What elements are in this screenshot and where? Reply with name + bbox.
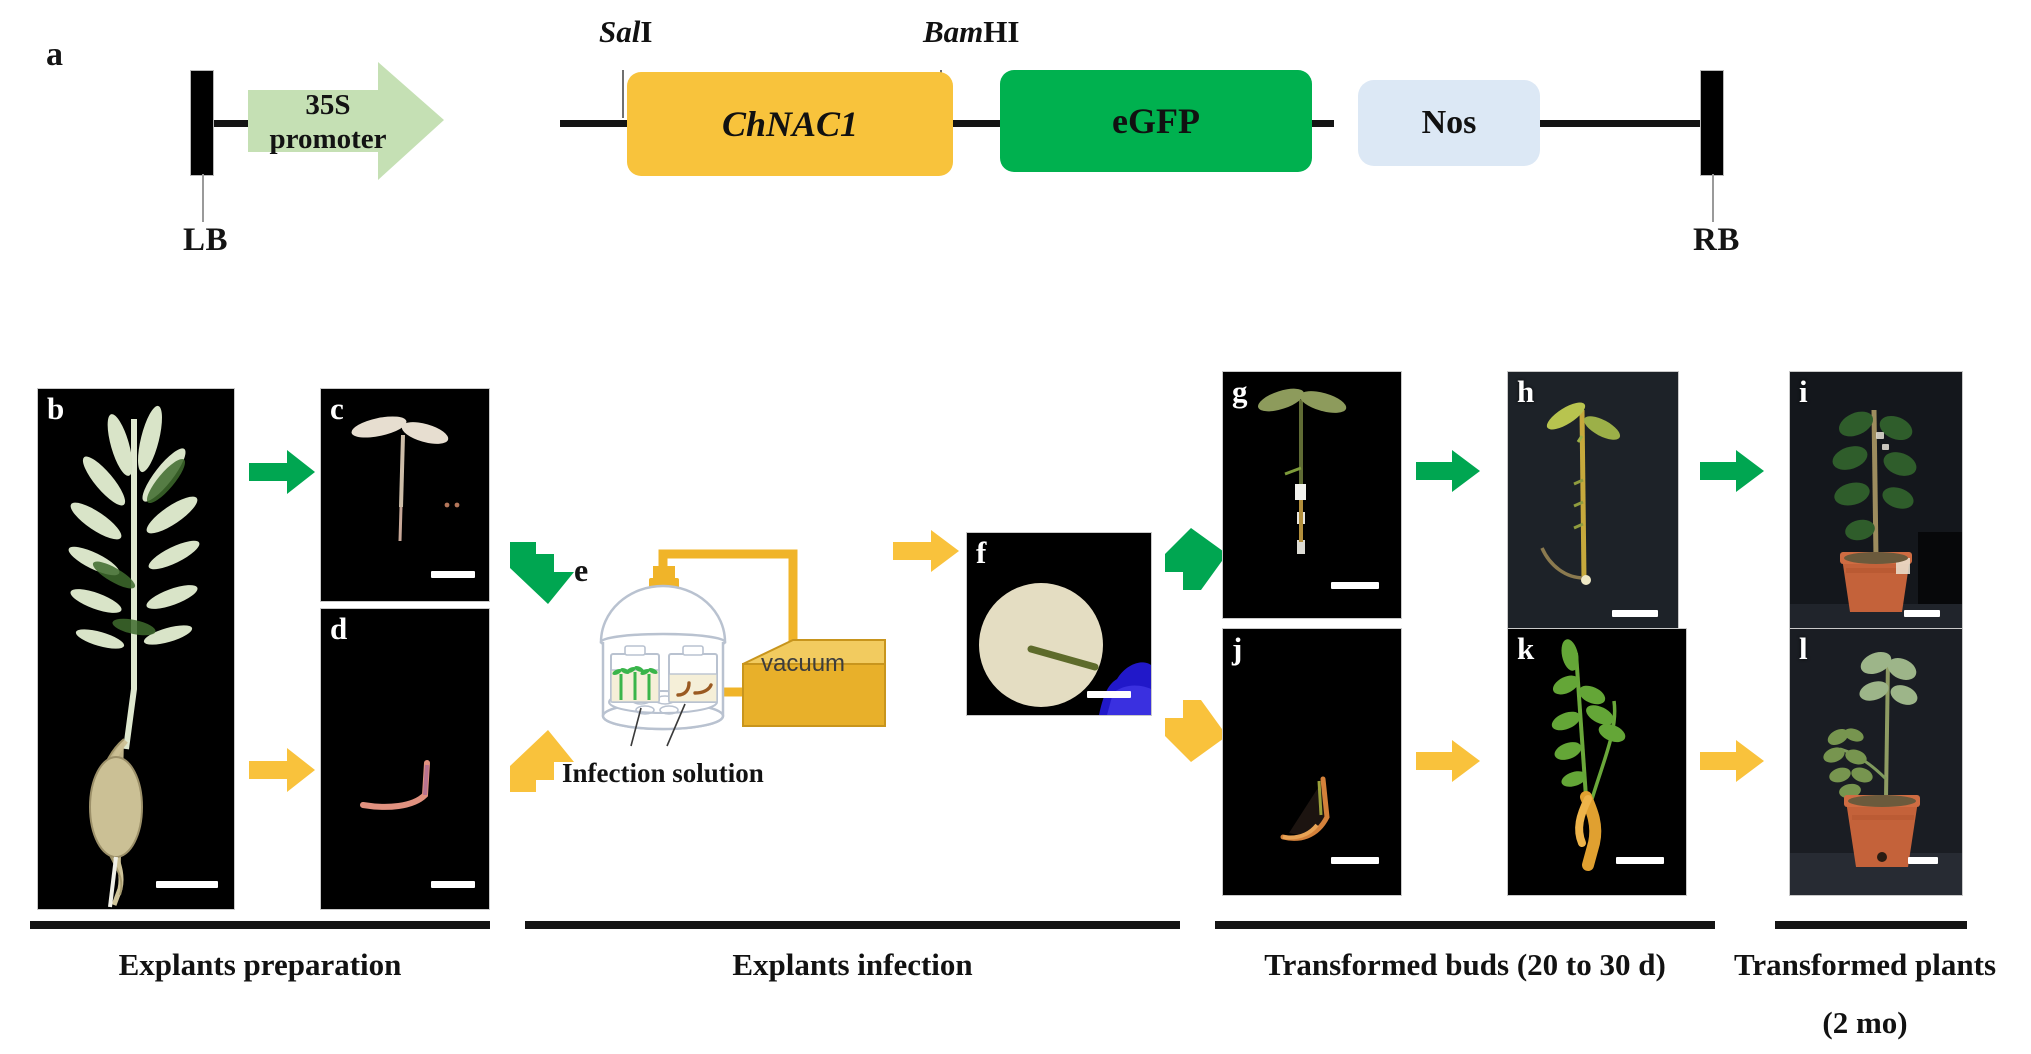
promoter-label: 35S promoter	[258, 76, 398, 168]
group-caption-transformed-plants: Transformed plants	[1700, 947, 2030, 983]
backbone-segment-promoter-gene	[560, 120, 635, 127]
panel-k-scalebar	[1616, 857, 1664, 864]
panel-i-scalebar	[1904, 610, 1940, 617]
panel-j-callus-graphic	[1223, 629, 1401, 895]
sali-roman: I	[640, 14, 652, 49]
sali-italic: Sal	[599, 14, 640, 49]
panel-h-rooted-bud-graphic	[1508, 372, 1678, 648]
arrow-b-to-c	[249, 450, 315, 494]
panel-j-photo[interactable]: j	[1222, 628, 1402, 896]
panel-l-scalebar	[1908, 857, 1938, 864]
right-border-leader	[1712, 174, 1714, 222]
panel-d-hypocotyl-graphic	[321, 609, 489, 909]
panel-j-scalebar	[1331, 857, 1379, 864]
panel-b-scalebar	[156, 881, 218, 888]
arrow-g-to-h	[1416, 450, 1480, 492]
panel-k-photo[interactable]: k	[1507, 628, 1687, 896]
promoter-line1: 35S	[305, 88, 350, 122]
bamhi-roman: HI	[983, 14, 1019, 49]
panel-c-scalebar	[431, 571, 475, 578]
panel-i-potted-plant-graphic	[1790, 372, 1962, 648]
group-rule-transformed-plants	[1775, 921, 1967, 929]
panel-b-photo[interactable]: b	[37, 388, 235, 910]
restriction-site-sali: SalI	[599, 14, 652, 50]
gene-box-nos-label: Nos	[1422, 104, 1477, 142]
panel-d-photo[interactable]: d	[320, 608, 490, 910]
figure-canvas: a LB RB 35S promoter SalI BamHI ChNAC1 e…	[0, 0, 2031, 1054]
panel-h-scalebar	[1612, 610, 1658, 617]
arrow-f-to-g	[1161, 528, 1227, 590]
panel-g-photo[interactable]: g	[1222, 371, 1402, 619]
gene-box-egfp-label: eGFP	[1112, 101, 1200, 141]
arrow-j-to-k	[1416, 740, 1480, 782]
bamhi-italic: Bam	[923, 14, 983, 49]
panel-l-potted-plant-graphic	[1790, 629, 1962, 895]
left-border-label: LB	[183, 222, 228, 259]
group-caption-transformed-plants-duration: (2 mo)	[1700, 1005, 2030, 1041]
arrow-f-to-j	[1161, 700, 1227, 762]
infection-solution-label: Infection solution	[562, 758, 764, 789]
right-border-bar	[1700, 70, 1724, 176]
panel-f-petri-graphic	[967, 533, 1151, 715]
group-rule-explants-preparation	[30, 921, 490, 929]
group-caption-transformed-buds: Transformed buds (20 to 30 d)	[1215, 947, 1715, 983]
gene-box-nos: Nos	[1358, 80, 1540, 166]
panel-c-seedling-graphic	[321, 389, 489, 601]
promoter-line2: promoter	[269, 122, 386, 156]
gene-box-chnac1: ChNAC1	[627, 72, 953, 176]
left-border-bar	[190, 70, 214, 176]
left-border-leader	[202, 174, 204, 222]
arrow-k-to-l	[1700, 740, 1764, 782]
gene-box-chnac1-label: ChNAC1	[722, 104, 858, 144]
panel-b-plant-graphic	[38, 389, 234, 909]
arrow-b-to-d	[249, 748, 315, 792]
panel-letter-a: a	[46, 36, 63, 74]
right-border-label: RB	[1693, 222, 1740, 259]
panel-c-photo[interactable]: c	[320, 388, 490, 602]
panel-f-scalebar	[1087, 691, 1131, 698]
restriction-site-bamhi: BamHI	[923, 14, 1019, 50]
group-caption-explants-preparation: Explants preparation	[30, 947, 490, 983]
panel-g-scalebar	[1331, 582, 1379, 589]
arrow-e-to-f	[893, 530, 959, 572]
panel-i-photo[interactable]: i	[1789, 371, 1963, 649]
panel-k-rooted-plantlet-graphic	[1508, 629, 1686, 895]
group-rule-explants-infection	[525, 921, 1180, 929]
panel-d-scalebar	[431, 881, 475, 888]
panel-h-photo[interactable]: h	[1507, 371, 1679, 649]
sali-tick	[622, 70, 624, 118]
group-caption-explants-infection: Explants infection	[525, 947, 1180, 983]
group-rule-transformed-buds	[1215, 921, 1715, 929]
gene-box-egfp: eGFP	[1000, 70, 1312, 172]
panel-f-photo[interactable]: f	[966, 532, 1152, 716]
panel-l-photo[interactable]: l	[1789, 628, 1963, 896]
arrow-h-to-i	[1700, 450, 1764, 492]
vacuum-box-label: vacuum	[761, 650, 845, 678]
